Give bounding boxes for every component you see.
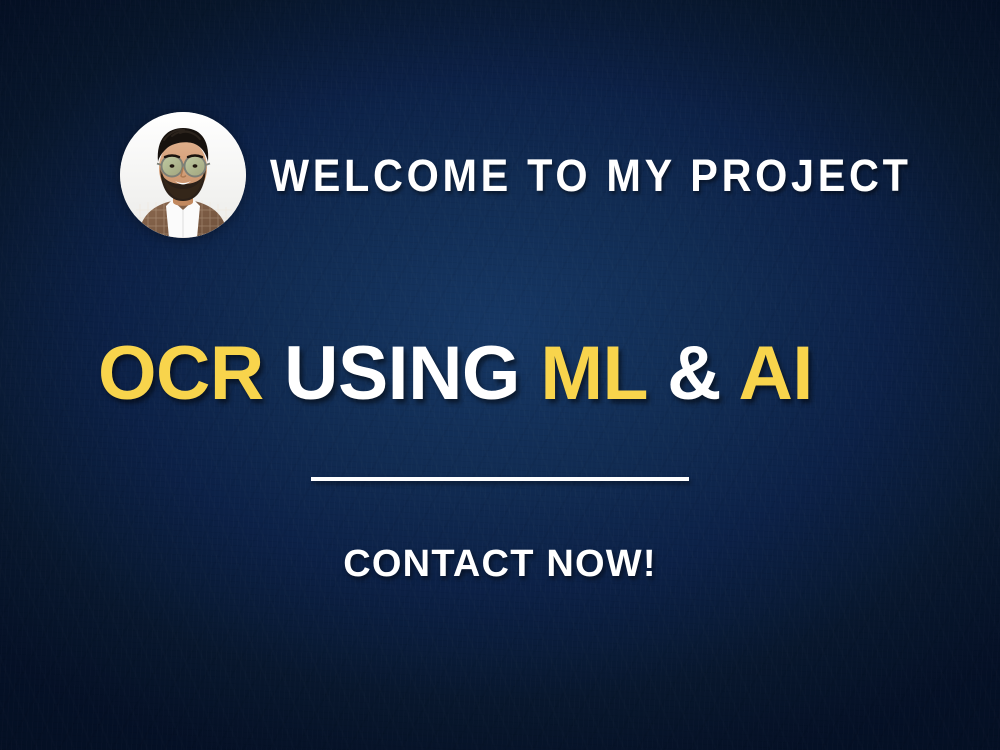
avatar-portrait-icon xyxy=(120,112,246,238)
title-segment-ocr: OCR xyxy=(98,331,264,416)
welcome-heading: WELCOME TO MY PROJECT xyxy=(270,150,912,202)
title-segment-ai: AI xyxy=(739,331,813,416)
title-segment-using: USING xyxy=(284,331,520,416)
title-space-1 xyxy=(264,331,284,416)
title-space-3 xyxy=(647,331,667,416)
divider-rule xyxy=(311,477,689,481)
title-segment-ampersand: & xyxy=(667,331,721,416)
avatar xyxy=(120,112,246,238)
poster-canvas: WELCOME TO MY PROJECT OCR USING ML & AI … xyxy=(0,0,1000,750)
title-segment-ml: ML xyxy=(540,331,646,416)
contact-now-label[interactable]: CONTACT NOW! xyxy=(304,543,696,586)
title-space-4 xyxy=(721,331,739,416)
title-space-2 xyxy=(520,331,540,416)
page-title: OCR USING ML & AI xyxy=(98,336,813,412)
